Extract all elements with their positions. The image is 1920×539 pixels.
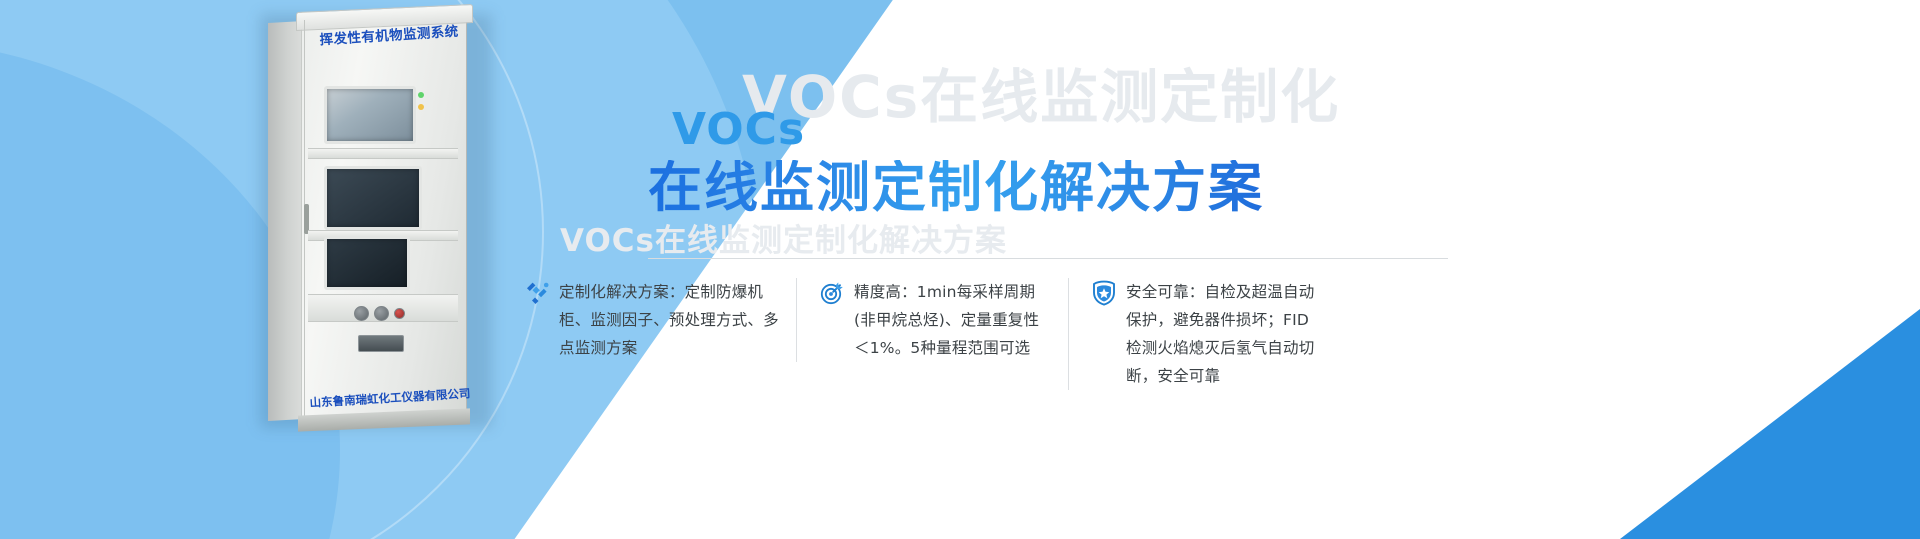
cabinet-display-screen-lower xyxy=(324,236,410,290)
feature-list: 定制化解决方案：定制防爆机柜、监测因子、预处理方式、多点监测方案 精度高：1mi… xyxy=(524,278,1340,390)
headline-title: 在线监测定制化解决方案 xyxy=(648,160,1264,217)
cabinet-display-screen-middle xyxy=(324,166,422,230)
feature-item-safety: 安全可靠：自检及超温自动保护，避免器件损坏；FID检测火焰熄灭后氢气自动切断，安… xyxy=(1068,278,1340,390)
product-cabinet-image: 挥发性有机物监测系统 山东鲁南瑞虹化工仪器有限公司 xyxy=(268,8,483,428)
cabinet-meter-readout xyxy=(358,335,404,352)
watermark-text-bottom: VOCs在线监测定制化解决方案 xyxy=(560,215,1007,260)
cabinet-module-strip-1 xyxy=(308,148,458,159)
feature-text: 定制化解决方案：定制防爆机柜、监测因子、预处理方式、多点监测方案 xyxy=(559,278,780,362)
feature-item-customization: 定制化解决方案：定制防爆机柜、监测因子、预处理方式、多点监测方案 xyxy=(524,278,796,362)
cabinet-indicator-red xyxy=(394,308,405,319)
customization-tools-icon xyxy=(524,280,550,306)
target-precision-icon xyxy=(819,280,845,306)
cabinet-side-panel xyxy=(268,21,304,421)
headline-block: VOCs 在线监测定制化解决方案 xyxy=(672,108,1264,217)
cabinet-status-led-green xyxy=(418,92,424,98)
feature-text: 精度高：1min每采样周期(非甲烷总烃)、定量重复性＜1%。5种量程范围可选 xyxy=(854,278,1052,362)
headline-eyebrow: VOCs xyxy=(672,108,1264,152)
shield-star-safety-icon xyxy=(1091,280,1117,306)
cabinet-status-led-amber xyxy=(418,104,424,110)
feature-text: 安全可靠：自检及超温自动保护，避免器件损坏；FID检测火焰熄灭后氢气自动切断，安… xyxy=(1126,278,1324,390)
cabinet-window-upper xyxy=(324,86,416,144)
vocs-promo-banner: VOCs在线监测定制化 VOCs在线监测定制化解决方案 挥发性有机物监测系统 山… xyxy=(0,0,1920,539)
headline-divider xyxy=(648,258,1448,259)
feature-item-precision: 精度高：1min每采样周期(非甲烷总烃)、定量重复性＜1%。5种量程范围可选 xyxy=(796,278,1068,362)
cabinet-knob-1 xyxy=(354,306,369,321)
cabinet-knob-2 xyxy=(374,306,389,321)
